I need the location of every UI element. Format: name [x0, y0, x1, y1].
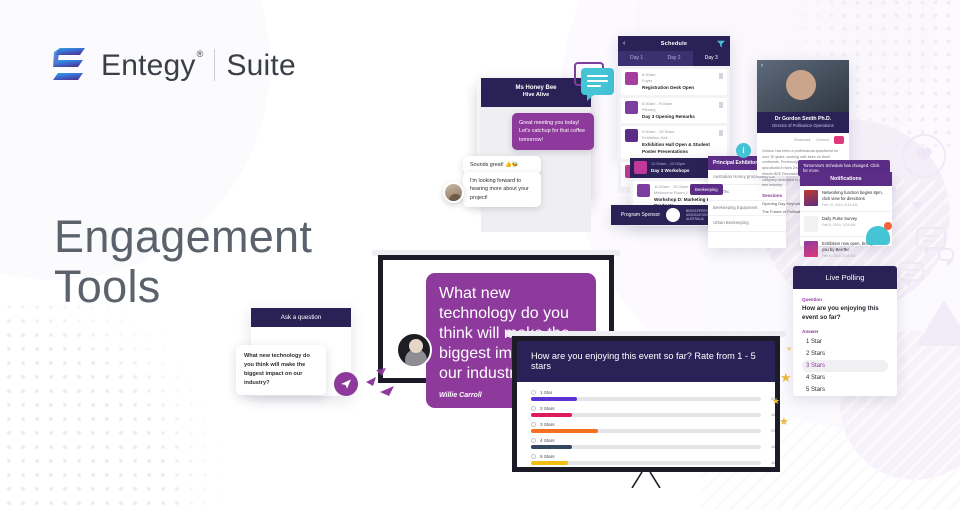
poll-result-row: 3 Stars 29% — [531, 422, 761, 433]
back-chevron-icon[interactable]: ‹ — [623, 40, 625, 47]
exhibitor-row[interactable]: Urban Beekeeping — [708, 216, 786, 231]
back-chevron-icon[interactable]: ‹ — [761, 63, 763, 69]
session-title: Registration Desk Open — [642, 85, 694, 92]
poll-option-label-row: 1 Star — [531, 390, 761, 395]
poll-bar-fill — [531, 397, 577, 401]
poll-result-row: 5 Stars 16% — [531, 454, 761, 465]
chat-contact-name: Ms Honey Bee — [485, 84, 587, 92]
sponsor-label: Program Sponsor — [621, 212, 660, 218]
notification-text: Networking function begins 6pm, click vi… — [822, 190, 888, 202]
send-motion-ticks-icon — [364, 368, 400, 396]
notification-time: Feb 6, 2019, 8:15 AM — [822, 254, 888, 258]
poll-option-label: 1 Star — [540, 390, 552, 395]
avatar — [396, 332, 432, 368]
bookmark-icon[interactable] — [719, 130, 723, 136]
day-banner-time: 11:00am - 12:00pm — [651, 161, 689, 167]
radio-icon — [531, 438, 536, 443]
poll-result-row: 1 Star 20% — [531, 390, 761, 401]
poll-option-1-star[interactable]: 1 Star — [802, 336, 888, 348]
speaker-photo: ‹ — [757, 60, 849, 112]
heart-ring-icon — [902, 134, 946, 178]
schedule-header: ‹ Schedule — [618, 36, 730, 51]
notification-time: Feb 10, 2019, 8:44 AM — [822, 203, 888, 207]
poll-option-5-stars[interactable]: 5 Stars — [802, 384, 888, 396]
notification-time: Feb 6, 2019, 9:24 AM — [822, 223, 857, 227]
chat-bubble-outline-icon-3 — [938, 248, 954, 261]
ask-question-bubble: What new technology do you think will ma… — [236, 345, 326, 395]
projector-stand — [628, 472, 664, 488]
poll-option-label: 5 Stars — [540, 454, 555, 459]
speaker-profile-card[interactable]: ‹ Dr Gordon Smith Ph.D. Director of Poll… — [757, 60, 849, 176]
day-icon — [634, 161, 647, 174]
live-polling-body: Question How are you enjoying this event… — [793, 289, 897, 396]
speaker-role: Director of Pollination Operations — [760, 123, 846, 128]
chat-bubble-outgoing: Great meeting you today! Let's catchup f… — [512, 113, 594, 150]
bookmark-action[interactable]: Bookmark — [794, 138, 810, 142]
heart-icon-tiny — [912, 202, 922, 211]
radio-icon — [531, 406, 536, 411]
session-location: Plenary — [642, 107, 695, 113]
poll-option-label-row: 3 Stars — [531, 422, 761, 427]
schedule-day-tabs[interactable]: Day 1 Day 2 Day 3 — [618, 51, 730, 66]
chat-bubble-icon — [581, 68, 614, 95]
radio-icon — [531, 422, 536, 427]
poll-option-label-row: 4 Stars — [531, 438, 761, 443]
poll-result-row: 2 Stars 18% — [531, 406, 761, 417]
notification-item[interactable]: Networking function begins 6pm, click vi… — [800, 186, 892, 212]
poll-bar-value: 16% — [771, 460, 775, 465]
filter-icon[interactable] — [717, 35, 725, 53]
schedule-app-card[interactable]: ‹ Schedule Day 1 Day 2 Day 3 8:30am Foye… — [618, 36, 730, 160]
speaker-actions[interactable]: Bookmark Connect — [757, 133, 849, 147]
bell-icon — [866, 224, 890, 248]
poll-bar-track: 16% — [531, 461, 761, 465]
avatar — [443, 182, 464, 203]
star-icon: ★ — [772, 396, 780, 407]
session-icon — [625, 101, 638, 114]
poll-bar-track: 29% — [531, 429, 761, 433]
brand-wordmark: Entegy® Suite — [101, 49, 296, 83]
poll-slide-surface: How are you enjoying this event so far? … — [517, 341, 775, 467]
poll-option-label-row: 5 Stars — [531, 454, 761, 459]
poll-bar-fill — [531, 445, 572, 449]
star-icon: ★ — [780, 370, 792, 386]
session-icon — [625, 129, 638, 142]
star-icon: ★ — [786, 345, 792, 353]
poll-option-label-row: 2 Stars — [531, 406, 761, 411]
poll-option-label: 2 Stars — [540, 406, 555, 411]
live-polling-title: Live Polling — [793, 266, 897, 289]
tab-day-2[interactable]: Day 2 — [655, 51, 692, 66]
poll-bar-track: 20% — [531, 397, 761, 401]
poll-option-3-stars[interactable]: 3 Stars — [802, 360, 888, 372]
day-banner-title: Day 3 Workshops — [651, 168, 689, 175]
poll-option-label: 4 Stars — [540, 438, 555, 443]
exhibitor-chip[interactable]: Beekeeping — [690, 184, 723, 195]
session-title: Day 3 Opening Remarks — [642, 114, 695, 121]
poster-canvas: Entegy® Suite Engagement Tools Ms Honey … — [0, 0, 960, 515]
tab-day-1[interactable]: Day 1 — [618, 51, 655, 66]
poll-bar-track: 18% — [531, 413, 761, 417]
info-icon[interactable]: i — [736, 143, 751, 158]
chat-contact-org: Hive Alive — [485, 92, 587, 100]
tab-day-3[interactable]: Day 3 — [693, 51, 730, 66]
poll-bar-value: 29% — [771, 428, 775, 433]
chat-bubble-outline-icon-2 — [898, 262, 924, 281]
brand-logo[interactable]: Entegy® Suite — [52, 46, 296, 86]
logo-divider — [214, 49, 215, 81]
poll-bar-fill — [531, 413, 572, 417]
ask-a-question-header: Ask a question — [251, 308, 351, 327]
notification-thumbnail — [804, 190, 818, 206]
presentation-screen-poll: How are you enjoying this event so far? … — [512, 336, 780, 472]
session-icon — [625, 72, 638, 85]
notification-thumbnail — [804, 216, 818, 232]
schedule-title: Schedule — [661, 41, 687, 47]
poll-question: How are you enjoying this event so far? — [802, 304, 888, 323]
registered-mark: ® — [197, 49, 204, 59]
brand-name: Entegy — [101, 49, 196, 83]
schedule-item[interactable]: 8:30am - 9:00am Plenary Day 3 Opening Re… — [621, 98, 727, 124]
send-icon[interactable] — [334, 372, 358, 396]
poll-bar-fill — [531, 461, 568, 465]
notification-text: Daily Pulse Survey — [822, 216, 857, 222]
poll-option-label: 3 Stars — [540, 422, 555, 427]
poll-option-2-stars[interactable]: 2 Stars — [802, 348, 888, 360]
live-polling-card[interactable]: Live Polling Question How are you enjoyi… — [793, 266, 897, 396]
speaker-name-block: Dr Gordon Smith Ph.D. Director of Pollin… — [757, 112, 849, 133]
entegy-e-logo-icon — [52, 46, 88, 86]
poll-bar-value: 18% — [771, 444, 775, 449]
speaker-name: Dr Gordon Smith Ph.D. — [760, 116, 846, 122]
notification-badge-dot — [884, 222, 892, 230]
sponsor-logo-icon — [666, 208, 680, 222]
notification-thumbnail — [804, 241, 818, 257]
headline-line-1: Engagement — [54, 212, 312, 262]
poll-bar-fill — [531, 429, 598, 433]
session-title: Exhibition Hall Open & Student Poster Pr… — [642, 142, 723, 155]
session-icon — [637, 184, 650, 197]
page-title: Engagement Tools — [54, 212, 312, 313]
headline-line-2: Tools — [54, 262, 312, 312]
notifications-title: Notifications — [800, 172, 892, 186]
radio-icon — [531, 390, 536, 395]
radio-icon — [531, 454, 536, 459]
session-location: Exhibition Hall — [642, 135, 723, 141]
question-label: Question — [802, 297, 888, 302]
background-dot-pattern-left — [0, 300, 220, 515]
heart-icon — [915, 148, 933, 164]
connect-action[interactable]: Connect — [816, 138, 829, 142]
schedule-item[interactable]: 8:30am Foyer Registration Desk Open — [621, 69, 727, 95]
connect-icon[interactable] — [834, 136, 844, 144]
poll-bar-track: 18% — [531, 445, 761, 449]
chat-bubble-incoming-2: I'm looking forward to hearing more abou… — [463, 172, 541, 207]
poll-question-title: How are you enjoying this event so far? … — [517, 341, 775, 382]
poll-bar-value: 18% — [771, 412, 775, 417]
chat-bubble-outline-icon — [916, 227, 946, 249]
bookmark-icon[interactable] — [719, 102, 723, 108]
poll-result-row: 4 Stars 18% — [531, 438, 761, 449]
star-icon: ★ — [779, 415, 789, 428]
poll-results-chart: 1 Star 20% 2 Stars 18% — [517, 382, 775, 467]
answer-label: Answer — [802, 329, 888, 334]
schedule-item[interactable]: 9:00am - 10:30am Exhibition Hall Exhibit… — [621, 126, 727, 158]
poll-option-4-stars[interactable]: 4 Stars — [802, 372, 888, 384]
bookmark-icon[interactable] — [719, 73, 723, 79]
product-name: Suite — [226, 49, 295, 83]
triangle-decoration — [916, 300, 960, 346]
session-location: Foyer — [642, 78, 694, 84]
